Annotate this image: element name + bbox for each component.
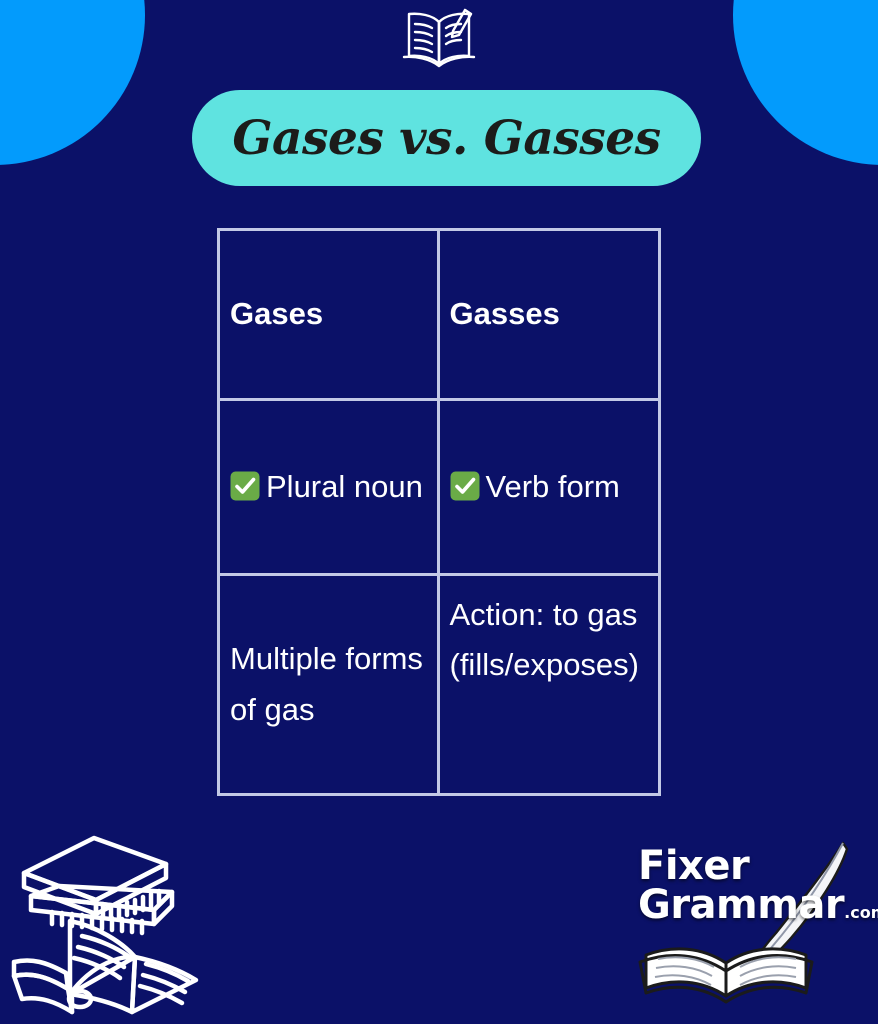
open-book-with-pencil-icon: [396, 4, 482, 74]
column-header-label: Gases: [230, 297, 323, 331]
table-cell-header-gases: Gases: [220, 231, 440, 398]
page-title: Gases vs. Gasses: [232, 111, 660, 166]
corner-blob-left: [0, 0, 145, 165]
white-check-mark-emoji-icon: [450, 466, 480, 496]
table-cell-header-gasses: Gasses: [440, 231, 659, 398]
table-row: Multiple forms of gas Action: to gas (fi…: [220, 576, 658, 793]
corner-blob-right: [733, 0, 878, 165]
table-cell-gases-meaning: Multiple forms of gas: [220, 576, 440, 793]
poster-canvas: Gases vs. Gasses Gases Gasses: [0, 0, 878, 1024]
table-cell-gases-partofspeech: Plural noun: [220, 401, 440, 573]
title-pill: Gases vs. Gasses: [192, 90, 701, 186]
cell-text: Verb form: [486, 469, 620, 504]
table-cell-gasses-partofspeech: Verb form: [440, 401, 659, 573]
white-check-mark-emoji-icon: [230, 466, 260, 496]
cell-text: Plural noun: [266, 469, 423, 504]
table-row-header: Gases Gasses: [220, 231, 658, 401]
brand-logo[interactable]: Fixer Grammar.com: [630, 841, 870, 1006]
comparison-table: Gases Gasses Pl: [217, 228, 661, 796]
cell-text: Action: to gas (fills/exposes): [450, 590, 651, 690]
table-row: Plural noun Verb form: [220, 401, 658, 576]
quill-pen-and-open-book-icon: [630, 841, 870, 1006]
cell-text: Multiple forms of gas: [230, 634, 429, 734]
column-header-label: Gasses: [450, 297, 560, 331]
stacked-and-open-books-icon: [4, 816, 222, 1016]
table-cell-gasses-meaning: Action: to gas (fills/exposes): [440, 576, 659, 793]
